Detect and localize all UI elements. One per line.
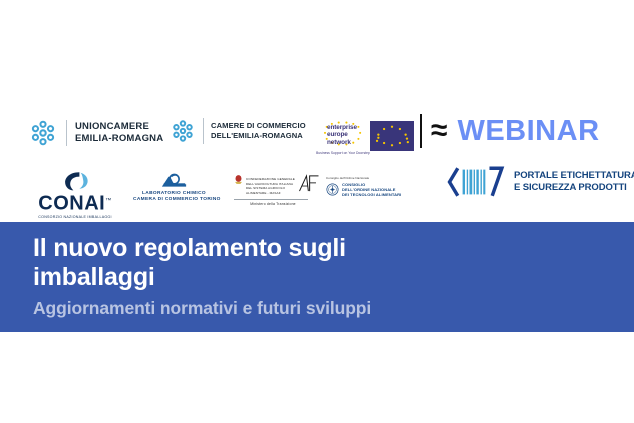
conai-trademark: ™ [105,198,112,204]
logo-tecnologi-alimentari: Consiglio dell'Ordine Nazionale CONSIGLI… [326,176,406,198]
mandala-circle-icon [170,118,196,144]
logo-divider [203,118,204,144]
webinar-divider-bar [420,114,422,148]
tecnologi-line1: CONSIGLIO [342,182,365,187]
af-monogram-icon [298,174,320,193]
een-wordmark: enterprise europe network [327,124,357,147]
barcode-bracket-icon [444,166,506,198]
eu-flag-icon [370,121,414,151]
ministero-lines: CONFEDERAZIONE GENERALE DELL'AGRICOLTURA… [246,174,295,196]
flask-emblem-icon [160,172,188,189]
tecnologi-body: CONSIGLIO DELL'ORDINE NAZIONALE DEI TECN… [326,182,406,198]
logo-camere-di-commercio: CAMERE DI COMMERCIO DELL'EMILIA-ROMAGNA [170,118,306,144]
lab-line2: CAMERA DI COMMERCIO TORINO [133,197,221,202]
tecnologi-line3: DEI TECNOLOGI ALIMENTARI [342,192,401,197]
lab-wordmark: LABORATORIO CHIMICO CAMERA DI COMMERCIO … [133,191,215,204]
conai-word-text: CONAI [38,193,105,215]
approx-wave-icon: ≈ [431,116,446,146]
logo-conai: CONAI™ CONSORZIO NAZIONALE IMBALLAGGI [33,170,117,219]
conai-tagline: CONSORZIO NAZIONALE IMBALLAGGI [33,215,117,219]
logo-laboratorio-chimico: LABORATORIO CHIMICO CAMERA DI COMMERCIO … [133,172,215,204]
logo-ministero: CONFEDERAZIONE GENERALE DELL'AGRICOLTURA… [234,174,312,206]
swoosh-spiral-icon [58,170,92,192]
unioncamere-line2: EMILIA-ROMAGNA [75,133,163,144]
ministero-line-1: CONFEDERAZIONE GENERALE [246,177,295,182]
logo-unioncamere-emilia-romagna: UNIONCAMERE EMILIA-ROMAGNA [28,118,163,148]
tecnologi-wordmark: CONSIGLIO DELL'ORDINE NAZIONALE DEI TECN… [342,182,401,198]
logo-portale-etichettatura: PORTALE ETICHETTATURA E SICUREZZA PRODOT… [444,166,634,198]
banner-text-block: Il nuovo regolamento sugli imballaggi Ag… [33,234,614,319]
een-line2: europe [327,131,348,138]
tecnologi-header: Consiglio dell'Ordine Nazionale [326,176,406,180]
camere-line2: DELL'EMILIA-ROMAGNA [211,131,303,140]
camere-line1: CAMERE DI COMMERCIO [211,121,306,130]
webinar-badge: ≈ WEBINAR [420,114,600,148]
webinar-flyer: UNIONCAMERE EMILIA-ROMAGNA [0,0,634,423]
mandala-circle-icon [28,118,58,148]
logo-enterprise-europe-network: enterprise europe network Business Suppo… [320,116,366,158]
webinar-label: WEBINAR [457,116,599,146]
portale-line2: E SICUREZZA PRODOTTI [514,182,627,193]
page-subtitle: Aggiornamenti normativi e futuri svilupp… [33,298,614,319]
camere-wordmark: CAMERE DI COMMERCIO DELL'EMILIA-ROMAGNA [211,121,306,141]
een-line3: network [327,139,351,146]
logo-divider [66,120,67,146]
lab-line1: LABORATORIO CHIMICO [142,191,206,196]
ministero-rule [234,199,308,200]
ministero-footer: Ministero della Transizione [234,202,312,206]
page-title: Il nuovo regolamento sugli imballaggi [33,234,463,293]
ministero-top: CONFEDERAZIONE GENERALE DELL'AGRICOLTURA… [234,174,312,196]
unioncamere-wordmark: UNIONCAMERE EMILIA-ROMAGNA [75,121,163,145]
een-mark: enterprise europe network [321,120,365,150]
een-tagline: Business Support on Your Doorstep [316,151,370,155]
conai-wordmark: CONAI™ [33,191,117,214]
tecnologi-line2: DELL'ORDINE NAZIONALE [342,187,396,192]
republic-emblem-icon [234,174,243,186]
ministero-line-4: ALIMENTARE - MASAF [246,191,295,196]
een-line1: enterprise [327,124,357,131]
unioncamere-line1: UNIONCAMERE [75,121,149,132]
portale-line1: PORTALE ETICHETTATURA [514,170,634,181]
title-banner: Il nuovo regolamento sugli imballaggi Ag… [0,222,634,332]
portale-wordmark: PORTALE ETICHETTATURA E SICUREZZA PRODOT… [514,170,634,194]
republic-emblem-icon [326,183,339,196]
